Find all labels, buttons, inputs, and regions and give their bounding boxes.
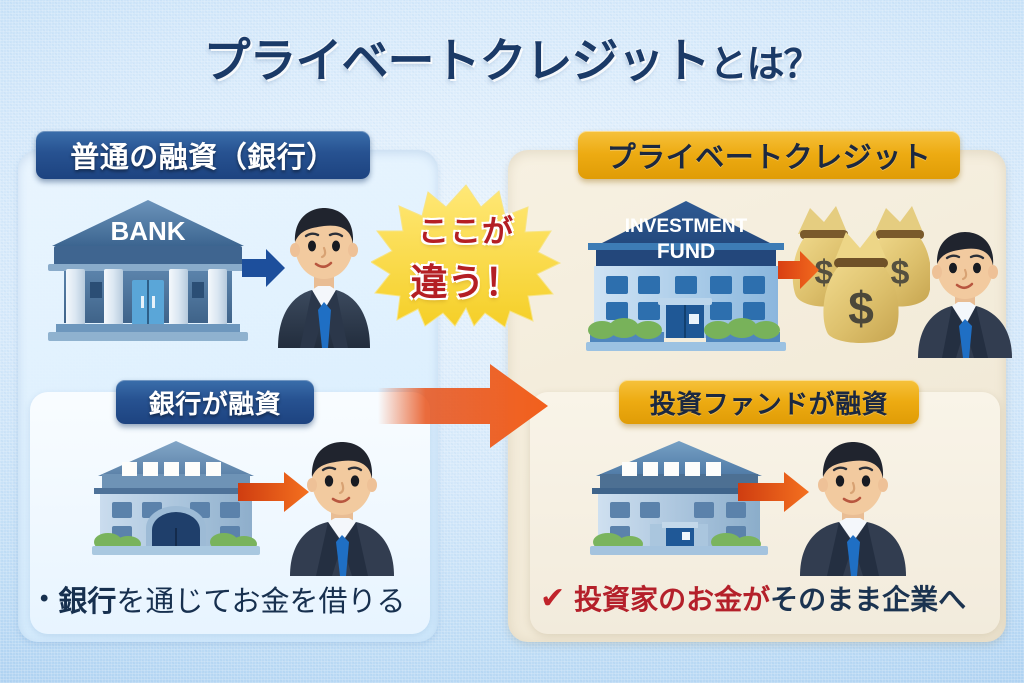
caption-left-normal: を通じてお金を借りる xyxy=(116,578,405,620)
header-badge-ordinary-loan-label: 普通の融資（銀行） xyxy=(70,134,336,176)
callout-starburst: ここが 違う！ xyxy=(371,183,561,328)
fund-sign-line1: INVESTMENT xyxy=(625,216,748,237)
infographic-canvas: プライベートクレジットとは？ 普通の融資（銀行） プライベートクレジット 銀行が… xyxy=(0,0,1024,683)
page-title: プライベートクレジットとは？ xyxy=(0,22,1024,91)
check-mark-icon: ✔ xyxy=(540,581,565,616)
page-title-suffix: とは？ xyxy=(709,44,820,86)
caption-left: •銀行を通じてお金を借りる xyxy=(40,578,406,620)
bank-sign-text: BANK xyxy=(110,216,185,246)
caption-left-strong: 銀行 xyxy=(58,578,116,620)
header-badge-private-credit-label: プライベートクレジット xyxy=(607,134,932,176)
sub-badge-fund-lends: 投資ファンドが融資 xyxy=(619,380,919,424)
money-symbol-front: $ xyxy=(848,282,874,334)
caption-left-bullet: • xyxy=(40,585,48,613)
header-badge-private-credit: プライベートクレジット xyxy=(578,131,960,179)
caption-right: ✔投資家のお金がそのまま企業へ xyxy=(540,578,966,618)
arrow-right-orange-icon xyxy=(778,250,820,290)
caption-right-highlight: 投資家のお金が xyxy=(574,578,770,618)
sub-badge-fund-lends-label: 投資ファンドが融資 xyxy=(650,384,889,421)
arrow-right-orange-icon xyxy=(238,470,310,514)
transition-arrow-orange-icon xyxy=(378,358,550,454)
company-person-illustration xyxy=(912,228,1018,358)
company-person-illustration xyxy=(792,436,914,576)
investment-fund-building-illustration: INVESTMENT FUND xyxy=(580,196,792,354)
sub-badge-bank-lends: 銀行が融資 xyxy=(116,380,314,424)
caption-right-rest: そのまま企業へ xyxy=(770,578,966,618)
arrow-right-orange-icon xyxy=(738,470,810,514)
page-title-main: プライベートクレジット xyxy=(203,34,709,87)
fund-sign-line2: FUND xyxy=(657,240,715,263)
bank-building-illustration: BANK xyxy=(44,196,252,344)
sub-badge-bank-lends-label: 銀行が融資 xyxy=(149,384,282,421)
header-badge-ordinary-loan: 普通の融資（銀行） xyxy=(36,131,370,179)
arrow-right-blue-icon xyxy=(242,248,286,288)
